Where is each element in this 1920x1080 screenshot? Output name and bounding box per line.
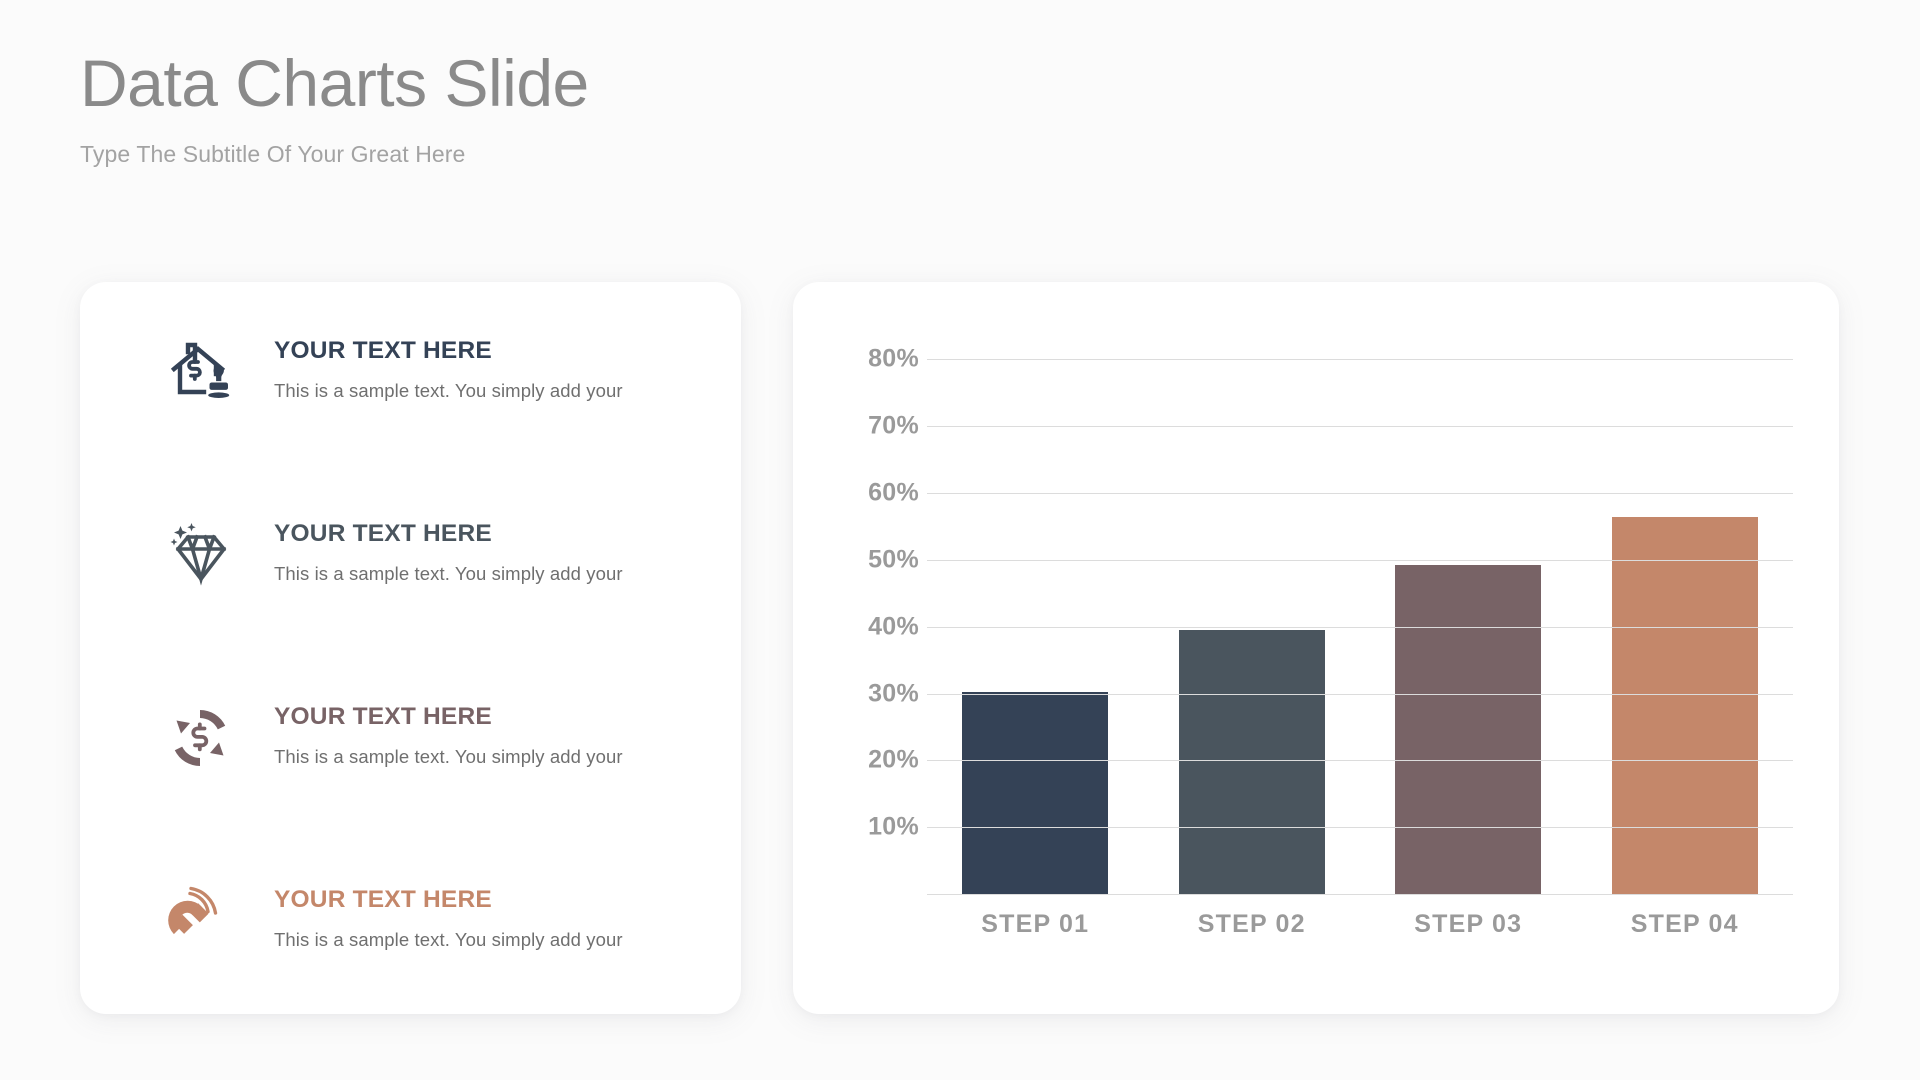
feature-text: YOUR TEXT HERE This is a sample text. Yo… (274, 696, 623, 769)
gridline (927, 627, 1793, 628)
feature-description: This is a sample text. You simply add yo… (274, 562, 623, 586)
y-axis: 10%20%30%40%50%60%70%80% (833, 326, 919, 894)
gridline (927, 827, 1793, 828)
x-axis-tick-label: STEP 01 (927, 910, 1144, 939)
bar[interactable] (1179, 630, 1325, 894)
x-axis-tick-label: STEP 04 (1577, 910, 1794, 939)
page-title: Data Charts Slide (80, 48, 589, 119)
gridline (927, 560, 1793, 561)
gridline (927, 894, 1793, 895)
y-axis-tick-label: 60% (868, 479, 919, 508)
feature-title: YOUR TEXT HERE (274, 885, 623, 914)
y-axis-tick-label: 40% (868, 612, 919, 641)
chart-card: 10%20%30%40%50%60%70%80% STEP 01STEP 02S… (793, 282, 1839, 1014)
gridline (927, 493, 1793, 494)
y-axis-tick-label: 80% (868, 345, 919, 374)
gridline (927, 694, 1793, 695)
page-subtitle: Type The Subtitle Of Your Great Here (80, 141, 589, 168)
list-item[interactable]: YOUR TEXT HERE This is a sample text. Yo… (80, 879, 741, 1062)
bar-chart: 10%20%30%40%50%60%70%80% STEP 01STEP 02S… (793, 282, 1839, 1014)
bar-slot (927, 326, 1144, 894)
x-axis-tick-label: STEP 03 (1360, 910, 1577, 939)
bar[interactable] (962, 692, 1108, 894)
y-axis-tick-label: 50% (868, 545, 919, 574)
features-card: YOUR TEXT HERE This is a sample text. Yo… (80, 282, 741, 1014)
plot-area (927, 326, 1793, 894)
magnet-signal-icon (162, 883, 238, 959)
feature-title: YOUR TEXT HERE (274, 336, 623, 365)
gridline (927, 426, 1793, 427)
list-item[interactable]: YOUR TEXT HERE This is a sample text. Yo… (80, 330, 741, 513)
bar[interactable] (1612, 517, 1758, 894)
feature-title: YOUR TEXT HERE (274, 702, 623, 731)
y-axis-tick-label: 20% (868, 746, 919, 775)
gridline (927, 760, 1793, 761)
feature-text: YOUR TEXT HERE This is a sample text. Yo… (274, 879, 623, 952)
dollar-refresh-cycle-icon (162, 700, 238, 776)
y-axis-tick-label: 70% (868, 412, 919, 441)
y-axis-tick-label: 30% (868, 679, 919, 708)
bar-slot (1360, 326, 1577, 894)
diamond-sparkle-icon (162, 517, 238, 593)
bar[interactable] (1395, 565, 1541, 894)
x-axis-tick-label: STEP 02 (1144, 910, 1361, 939)
feature-list: YOUR TEXT HERE This is a sample text. Yo… (80, 330, 741, 1062)
slide-canvas: Data Charts Slide Type The Subtitle Of Y… (0, 0, 1920, 1080)
gridline (927, 359, 1793, 360)
feature-text: YOUR TEXT HERE This is a sample text. Yo… (274, 513, 623, 586)
house-dollar-stamp-icon (162, 334, 238, 410)
feature-text: YOUR TEXT HERE This is a sample text. Yo… (274, 330, 623, 403)
bar-series (927, 326, 1793, 894)
slide-header: Data Charts Slide Type The Subtitle Of Y… (80, 48, 589, 168)
x-axis: STEP 01STEP 02STEP 03STEP 04 (927, 910, 1793, 939)
bar-slot (1144, 326, 1361, 894)
list-item[interactable]: YOUR TEXT HERE This is a sample text. Yo… (80, 696, 741, 879)
y-axis-tick-label: 10% (868, 813, 919, 842)
bar-slot (1577, 326, 1794, 894)
feature-description: This is a sample text. You simply add yo… (274, 745, 623, 769)
feature-title: YOUR TEXT HERE (274, 519, 623, 548)
feature-description: This is a sample text. You simply add yo… (274, 928, 623, 952)
feature-description: This is a sample text. You simply add yo… (274, 379, 623, 403)
list-item[interactable]: YOUR TEXT HERE This is a sample text. Yo… (80, 513, 741, 696)
